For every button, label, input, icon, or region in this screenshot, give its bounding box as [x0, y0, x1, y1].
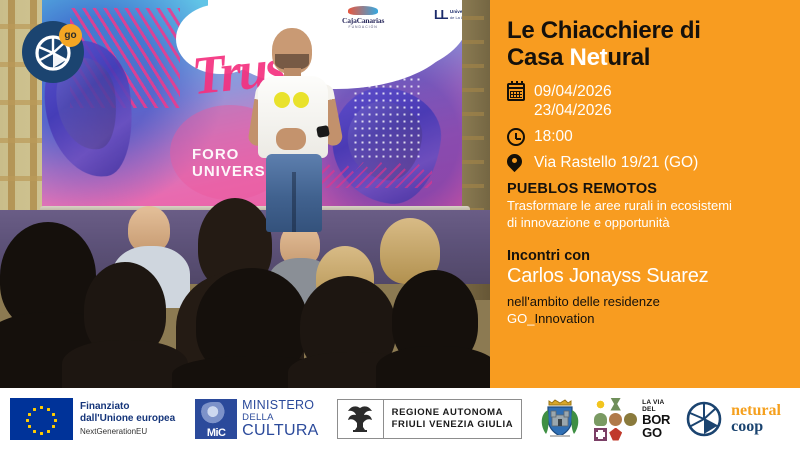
audience-body [376, 346, 490, 388]
cajacanarias-logo: CajaCanarias FUNDACIÓN [342, 6, 384, 29]
netural-coop-text: netural coop [731, 403, 781, 435]
fvg-line-2: FRIULI VENEZIA GIULIA [392, 419, 514, 431]
la-via-del-borgo-logo: LA VIA DEL BOR GO [594, 398, 670, 441]
fvg-line-1: REGIONE AUTONOMA [392, 407, 514, 419]
date-line-1: 09/04/2026 [534, 82, 612, 101]
meet-label: Incontri con [507, 248, 800, 264]
mic-line-3: CULTURA [242, 423, 318, 439]
ull-line2: de La Laguna [450, 15, 462, 20]
audience-body [62, 340, 188, 388]
title-line-1: Le Chiacchiere di [507, 17, 701, 44]
regione-fvg-logo: REGIONE AUTONOMA FRIULI VENEZIA GIULIA [337, 399, 523, 439]
borgo-sun-icon [594, 398, 607, 411]
eu-line-2: dall'Unione europea [80, 413, 175, 425]
eu-funding-text: Finanziato dall'Unione europea NextGener… [80, 401, 175, 437]
mic-mark-icon: MiC [195, 399, 237, 439]
banner-dots-decor [352, 76, 422, 161]
eu-line-3: NextGenerationEU [80, 426, 175, 437]
ull-line1: Universidad [450, 9, 462, 14]
ull-mark-icon: LL [434, 10, 447, 20]
residency-note: nell'ambito delle residenze GO_Innovatio… [507, 294, 800, 327]
cajacanarias-name: CajaCanarias [342, 16, 384, 25]
borgo-tree-icon [594, 413, 607, 426]
clock-icon [507, 128, 525, 146]
detail-row-location: Via Rastello 19/21 (GO) [507, 153, 800, 172]
borgo-leaf-icon [609, 428, 622, 441]
event-info-panel: Le Chiacchiere di Casa Netural 09/04/202… [490, 0, 800, 388]
netural-coop-logo: netural coop [684, 399, 781, 439]
program-kicker: PUEBLOS REMOTOS [507, 181, 800, 197]
coat-of-arms-icon [536, 396, 584, 442]
mic-abbrev: MiC [207, 427, 226, 439]
program-description: Trasformare le aree rurali in ecosistemi… [507, 198, 800, 231]
speaker-shirt-graphic [274, 92, 310, 110]
netural-go-badge[interactable]: go [22, 21, 84, 83]
mic-line-2: DELLA [242, 413, 318, 423]
title-highlight: Net [570, 44, 608, 71]
go-bubble-label: go [59, 24, 82, 47]
speaker-watch [316, 125, 330, 138]
residency-line-1: nell'ambito delle residenze [507, 294, 660, 309]
comune-coat-of-arms [536, 396, 584, 442]
residency-program: Innovation [534, 311, 594, 326]
regione-fvg-text: REGIONE AUTONOMA FRIULI VENEZIA GIULIA [384, 400, 522, 438]
borgo-hourglass-icon [609, 398, 622, 411]
detail-row-date: 09/04/2026 23/04/2026 [507, 82, 800, 120]
program-desc-line-1: Trasformare le aree rurali in ecosistemi [507, 198, 732, 213]
calendar-icon [507, 83, 525, 101]
cajacanarias-sub: FUNDACIÓN [342, 25, 384, 29]
borgo-circle-icon [609, 413, 622, 426]
title-line-2-plain: Casa [507, 44, 570, 71]
eu-line-1: Finanziato [80, 401, 175, 413]
event-poster: CajaCanarias FUNDACIÓN LL Universidad de… [0, 0, 800, 450]
cajacanarias-mark-icon [348, 6, 378, 15]
ministero-cultura-text: MINISTERO DELLA CULTURA [242, 399, 318, 439]
title-line-2-tail: ural [607, 44, 650, 71]
ull-text: Universidad de La Laguna [450, 9, 462, 21]
borgo-line-1: LA VIA [642, 399, 670, 406]
map-pin-icon [507, 154, 525, 169]
time-text: 18:00 [534, 127, 573, 146]
netural-wheel-icon-footer [684, 399, 724, 439]
page-title: Le Chiacchiere di Casa Netural [507, 17, 800, 71]
netural-word: netural [731, 403, 781, 419]
borgo-dot-icon [624, 413, 637, 426]
universidad-la-laguna-logo: LL Universidad de La Laguna [434, 9, 462, 21]
wall-rung [0, 176, 44, 181]
location-text: Via Rastello 19/21 (GO) [534, 153, 698, 172]
eu-stars [10, 398, 73, 440]
speaker-figure [246, 28, 342, 228]
mic-line-1: MINISTERO [242, 399, 318, 412]
date-text: 09/04/2026 23/04/2026 [534, 82, 612, 120]
program-block: PUEBLOS REMOTOS Trasformare le aree rura… [507, 181, 800, 231]
banner-word-line1: FORO [192, 146, 239, 163]
borgo-text: LA VIA DEL BOR GO [642, 399, 670, 439]
sponsor-logo-bar: Finanziato dall'Unione europea NextGener… [0, 388, 800, 450]
fvg-eagle-icon [338, 400, 384, 438]
eu-funding-logo: Finanziato dall'Unione europea NextGener… [10, 398, 175, 440]
wall-rung [0, 100, 44, 105]
borgo-icon-grid [594, 398, 637, 441]
date-line-2: 23/04/2026 [534, 101, 612, 120]
event-details-list: 09/04/2026 23/04/2026 18:00 Via Rastello… [507, 82, 800, 172]
detail-row-time: 18:00 [507, 127, 800, 146]
borgo-blank-cell [624, 398, 637, 411]
coop-word: coop [731, 419, 781, 435]
residency-prefix: GO_ [507, 311, 534, 326]
borgo-line-4: GO [642, 426, 670, 439]
wall-rung [0, 138, 44, 143]
mic-face-glyph [200, 402, 232, 426]
borgo-blank-cell-2 [624, 428, 637, 441]
ministero-cultura-logo: MiC MINISTERO DELLA CULTURA [195, 399, 318, 439]
guest-name: Carlos Jonayss Suarez [507, 264, 800, 288]
eu-flag-icon [10, 398, 73, 440]
speaker-hands [276, 128, 306, 150]
speaker-jeans [266, 154, 322, 232]
program-desc-line-2: di innovazione e opportunità [507, 215, 670, 230]
